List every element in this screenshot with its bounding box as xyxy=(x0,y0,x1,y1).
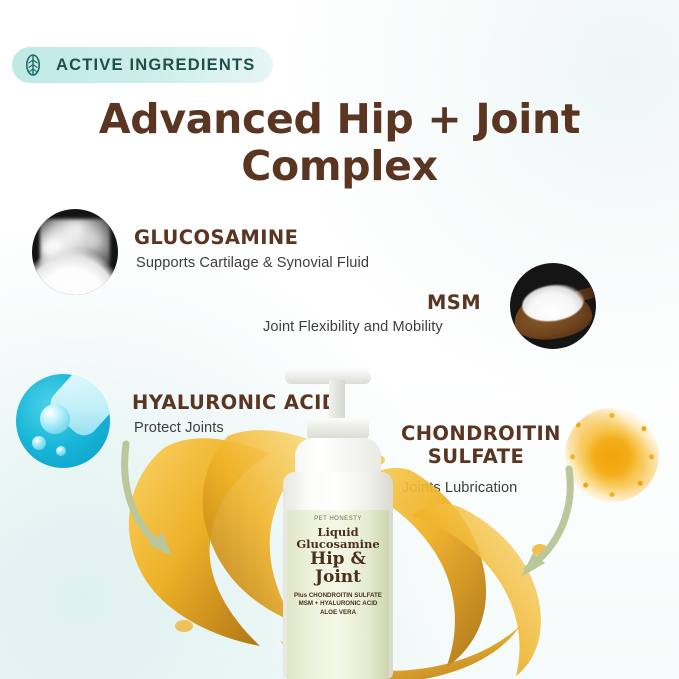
pump-head xyxy=(285,368,371,384)
status-badge: ACTIVE INGREDIENTS xyxy=(12,47,273,83)
blue-droplet-photo xyxy=(16,374,110,468)
leaf-icon xyxy=(20,52,46,78)
headline-line-1: Advanced Hip + Joint xyxy=(99,95,580,143)
brand-name: PET HONESTY xyxy=(287,516,389,522)
droplet-small-2 xyxy=(56,446,66,456)
powder-pile xyxy=(32,249,118,295)
droplet-large xyxy=(40,404,70,434)
ingredient-title-glucosamine: GLUCOSAMINE xyxy=(134,226,298,249)
ingredient-desc-msm: Joint Flexibility and Mobility xyxy=(263,319,443,335)
droplet-small-1 xyxy=(32,436,46,450)
ingredient-desc-glucosamine: Supports Cartilage & Synovial Fluid xyxy=(136,255,369,271)
headline-line-2: Complex xyxy=(0,143,679,190)
white-powder-photo xyxy=(32,209,118,295)
bottle-shoulder xyxy=(295,438,381,476)
curved-arrow-right xyxy=(495,465,579,590)
label-plus-ingredients: Plus CHONDROITIN SULFATE MSM + HYALURONI… xyxy=(287,592,389,617)
label-hip-and-joint: Hip & Joint xyxy=(287,551,389,587)
page-title: Advanced Hip + Joint Complex xyxy=(0,96,679,190)
bottle-label: PET HONESTY Liquid Glucosamine Hip & Joi… xyxy=(287,510,389,679)
ingredient-title-msm: MSM xyxy=(427,291,481,314)
pump-neck xyxy=(329,380,345,420)
badge-label: ACTIVE INGREDIENTS xyxy=(56,56,255,75)
product-bottle: PET HONESTY Liquid Glucosamine Hip & Joi… xyxy=(263,360,423,679)
curved-arrow-left xyxy=(118,440,198,575)
label-liquid-glucosamine: Liquid Glucosamine xyxy=(287,526,389,550)
bottle-collar xyxy=(307,418,369,440)
product-infographic: ACTIVE INGREDIENTS Advanced Hip + Joint … xyxy=(0,0,679,679)
wooden-spoon-powder-photo xyxy=(510,263,596,349)
